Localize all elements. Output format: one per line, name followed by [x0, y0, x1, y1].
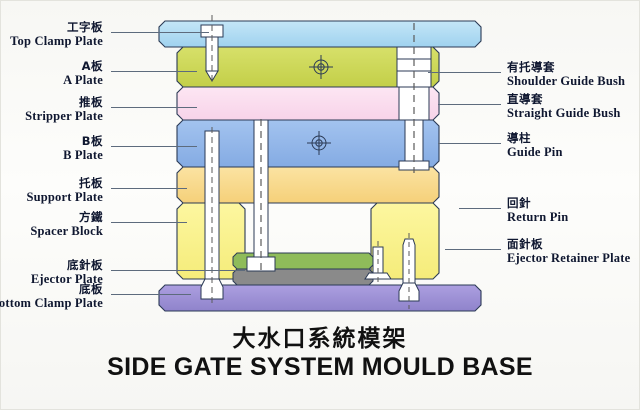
straight-guide-bush-shape — [399, 87, 429, 120]
label-a-plate-english: A Plate — [63, 73, 103, 87]
label-guide-pin-chinese: 導柱 — [507, 132, 563, 145]
label-spacer-block-english: Spacer Block — [30, 224, 103, 238]
label-shoulder-guide-bush-english: Shoulder Guide Bush — [507, 74, 625, 88]
label-b-plate-english: B Plate — [63, 148, 103, 162]
label-return-pin-chinese: 回針 — [507, 197, 568, 210]
label-ejector-retainer-plate-english: Ejector Retainer Plate — [507, 251, 630, 265]
label-guide-pin: 導柱Guide Pin — [507, 132, 563, 159]
label-top-clamp-plate: 工字板Top Clamp Plate — [10, 21, 103, 48]
label-spacer-block-chinese: 方鐵 — [30, 211, 103, 224]
leader-line-spacer-block — [111, 222, 187, 223]
leader-line-b-plate — [111, 146, 197, 147]
leader-line-guide-pin — [438, 143, 501, 144]
label-b-plate: B板B Plate — [63, 135, 103, 162]
leader-line-ejector-retainer-plate — [445, 249, 501, 250]
leader-line-stripper-plate — [111, 107, 197, 108]
label-bottom-clamp-plate-english: Bottom Clamp Plate — [0, 296, 103, 310]
label-return-pin-english: Return Pin — [507, 210, 568, 224]
label-b-plate-chinese: B板 — [63, 135, 103, 148]
label-ejector-retainer-plate-chinese: 面針板 — [507, 238, 630, 251]
title-english: SIDE GATE SYSTEM MOULD BASE — [1, 353, 639, 382]
label-top-clamp-plate-english: Top Clamp Plate — [10, 34, 103, 48]
leader-line-ejector-plate — [111, 270, 245, 271]
label-spacer-block: 方鐵Spacer Block — [30, 211, 103, 238]
leader-line-top-clamp-plate — [111, 32, 209, 33]
label-bottom-clamp-plate-chinese: 底板 — [0, 283, 103, 296]
label-stripper-plate: 推板Stripper Plate — [25, 96, 103, 123]
label-return-pin: 回針Return Pin — [507, 197, 568, 224]
title-chinese: 大水口系統模架 — [1, 319, 639, 353]
diagram-title: 大水口系統模架 SIDE GATE SYSTEM MOULD BASE — [1, 319, 639, 382]
leader-line-support-plate — [111, 188, 187, 189]
label-a-plate: A板A Plate — [63, 60, 103, 87]
label-support-plate-english: Support Plate — [26, 190, 103, 204]
diagram-canvas: 工字板Top Clamp PlateA板A Plate推板Stripper Pl… — [0, 0, 640, 410]
label-stripper-plate-chinese: 推板 — [25, 96, 103, 109]
label-support-plate-chinese: 托板 — [26, 177, 103, 190]
label-ejector-retainer-plate: 面針板Ejector Retainer Plate — [507, 238, 630, 265]
label-stripper-plate-english: Stripper Plate — [25, 109, 103, 123]
leader-line-return-pin — [459, 208, 501, 209]
label-support-plate: 托板Support Plate — [26, 177, 103, 204]
label-guide-pin-english: Guide Pin — [507, 145, 563, 159]
label-bottom-clamp-plate: 底板Bottom Clamp Plate — [0, 283, 103, 310]
label-straight-guide-bush-english: Straight Guide Bush — [507, 106, 621, 120]
return-pin-left-shape — [205, 131, 219, 279]
leader-line-shoulder-guide-bush — [428, 72, 501, 73]
label-straight-guide-bush: 直導套Straight Guide Bush — [507, 93, 621, 120]
leader-line-straight-guide-bush — [438, 104, 501, 105]
leader-line-bottom-clamp-plate — [111, 294, 191, 295]
label-a-plate-chinese: A板 — [63, 60, 103, 73]
label-ejector-plate-chinese: 底針板 — [31, 259, 103, 272]
leader-line-a-plate — [111, 71, 197, 72]
label-shoulder-guide-bush: 有托導套Shoulder Guide Bush — [507, 61, 625, 88]
label-straight-guide-bush-chinese: 直導套 — [507, 93, 621, 106]
label-shoulder-guide-bush-chinese: 有托導套 — [507, 61, 625, 74]
label-top-clamp-plate-chinese: 工字板 — [10, 21, 103, 34]
